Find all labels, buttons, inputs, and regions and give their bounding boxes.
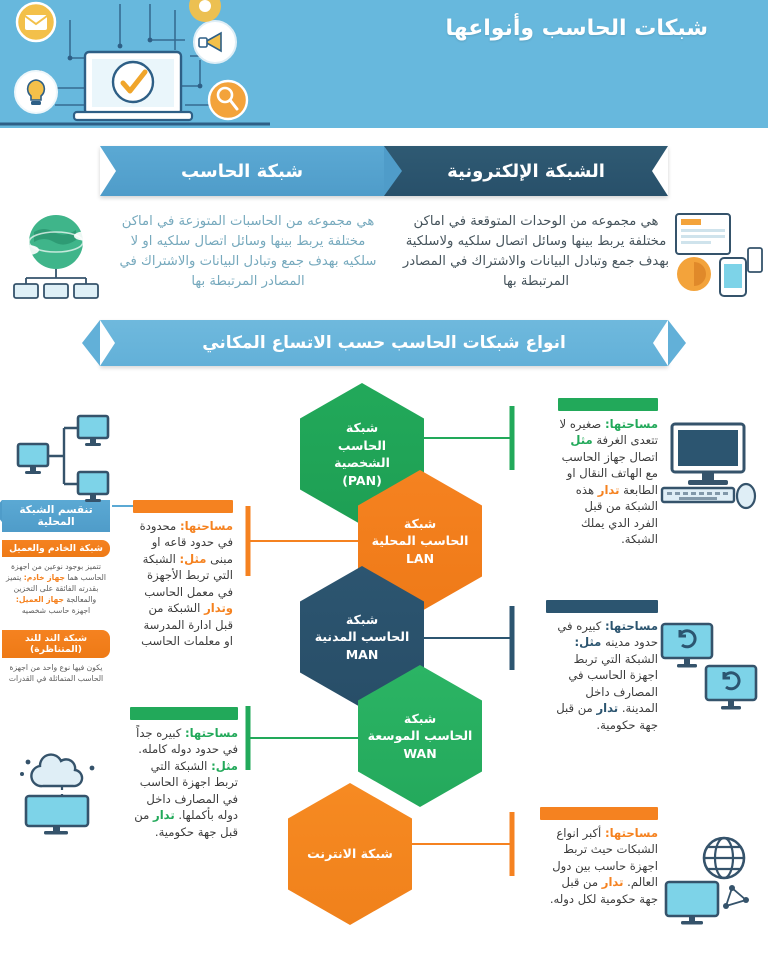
hexagon-lan-line2: الحاسب المحلية [372,532,469,550]
megaphone-icon [194,21,236,63]
info-pan-managed-label: تدار [598,483,620,497]
sync-monitors-icon [656,618,760,710]
hexagon-man-line3: MAN [315,646,410,664]
devices-icon [670,208,764,300]
sidebar-client-label: جهاز العميل: [16,595,64,604]
info-lan-example-label: مثل: [180,552,207,566]
hexagon-wan-line1: شبكة [368,710,473,728]
info-pan-example-label: مثل [570,433,592,447]
section-banner-label: انواع شبكات الحاسب حسب الاتساع المكاني [202,333,566,353]
page-title: شبكات الحاسب وأنواعها [445,16,708,41]
globe-monitor-icon [656,830,760,926]
section-notch-left-icon [100,320,115,366]
info-man: مساحتها: كبيره في حدود مدينه مثل: الشبكة… [546,600,658,733]
section-notch-right-icon [653,320,668,366]
gear-icon [189,0,221,22]
info-man-managed-label: تدار [596,701,618,715]
info-lan-managed-label: وتدار [204,601,233,615]
globe-network-icon [6,206,106,302]
page-header: شبكات الحاسب وأنواعها [0,0,768,128]
info-wan-bar [130,707,238,720]
banner-electronic-network: الشبكة الإلكترونية [384,146,668,196]
info-man-bar [546,600,658,613]
info-pan-bar [558,398,658,411]
info-pan-area-label: مساحتها: [605,417,658,431]
info-wan-area-label: مساحتها: [185,726,238,740]
hexagon-wan-line2: الحاسب الموسعة [368,727,473,745]
info-internet-area-label: مساحتها: [605,826,658,840]
hexagon-pan-line1: شبكة [308,419,416,437]
info-internet: مساحتها: أكبر انواع الشبكات حيث تربط اجه… [540,807,658,907]
server-monitor-icon [654,418,760,514]
hexagon-man-line2: الحاسب المدنية [315,628,410,646]
info-lan: مساحتها: محدودة في حدود قاعه او مبنى مثل… [133,500,233,650]
lan-subdivision-sidebar: تنقسم الشبكة المحلية شبكة الخادم والعميل… [2,500,110,684]
sidebar-title: تنقسم الشبكة المحلية [2,500,110,532]
banner-computer-network-label: شبكة الحاسب [181,161,303,182]
info-internet-bar [540,807,658,820]
comparison-banners: الشبكة الإلكترونية شبكة الحاسب [100,146,668,202]
info-wan: مساحتها: كبيره جداً في حدود دوله كامله. … [130,707,238,840]
info-lan-bar [133,500,233,513]
info-man-example-label: مثل: [574,635,601,649]
hexagon-man-line1: شبكة [315,611,410,629]
hexagon-internet-label: شبكة الانترنت [307,845,393,863]
banner-computer-network: شبكة الحاسب [100,146,384,196]
info-pan: مساحتها: صغيره لا تتعدى الغرفة مثل اتصال… [558,398,658,548]
hero-illustration [0,0,270,128]
magnifier-icon [209,81,247,119]
sidebar-box-peer-to-peer: شبكة الند للند (المتناظرة) يكون فيها نوع… [2,630,110,684]
banner-electronic-network-label: الشبكة الإلكترونية [447,161,605,182]
hexagon-lan-line1: شبكة [372,515,469,533]
ribbon-notch-light-icon [100,146,116,196]
hexagon-lan-line3: LAN [372,550,469,568]
sidebar-box-peer-to-peer-head: شبكة الند للند (المتناظرة) [2,630,110,658]
mail-icon [17,3,55,41]
cloud-monitor-icon [10,740,110,836]
hexagon-wan-line3: WAN [368,745,473,763]
sidebar-server-label: جهاز خادم: [24,573,65,582]
laptop-check-icon [74,52,192,120]
ribbon-notch-dark-icon [652,146,668,196]
info-man-area-label: مساحتها: [605,619,658,633]
definition-electronic-network: هي مجموعه من الوحدات المتوقعة في اماكن م… [400,212,672,292]
sidebar-client-text: اجهزة حاسب شخصيه [22,606,90,615]
definition-computer-network: هي مجموعه من الحاسبات المتوزعة في اماكن … [112,212,384,292]
info-lan-area-label: مساحتها: [180,519,233,533]
hexagon-pan-line2: الحاسب الشخصية [308,437,416,472]
sidebar-box-server-client-head: شبكة الخادم والعميل [2,540,110,557]
info-wan-managed-label: تدار [153,808,175,822]
info-internet-managed-label: تدار [602,875,624,889]
infographic-page: شبكات الحاسب وأنواعها الشبكة الإلكترونية… [0,0,768,960]
section-banner: انواع شبكات الحاسب حسب الاتساع المكاني [100,320,668,366]
sidebar-box-server-client: شبكة الخادم والعميل تتميز بوجود نوعين من… [2,540,110,616]
sidebar-box-peer-to-peer-body: يكون فيها نوع واحد من اجهزة الحاسب المتم… [9,663,103,683]
lightbulb-icon [15,71,57,113]
info-wan-example-label: مثل: [211,759,238,773]
desktop-cluster-icon [8,408,112,504]
